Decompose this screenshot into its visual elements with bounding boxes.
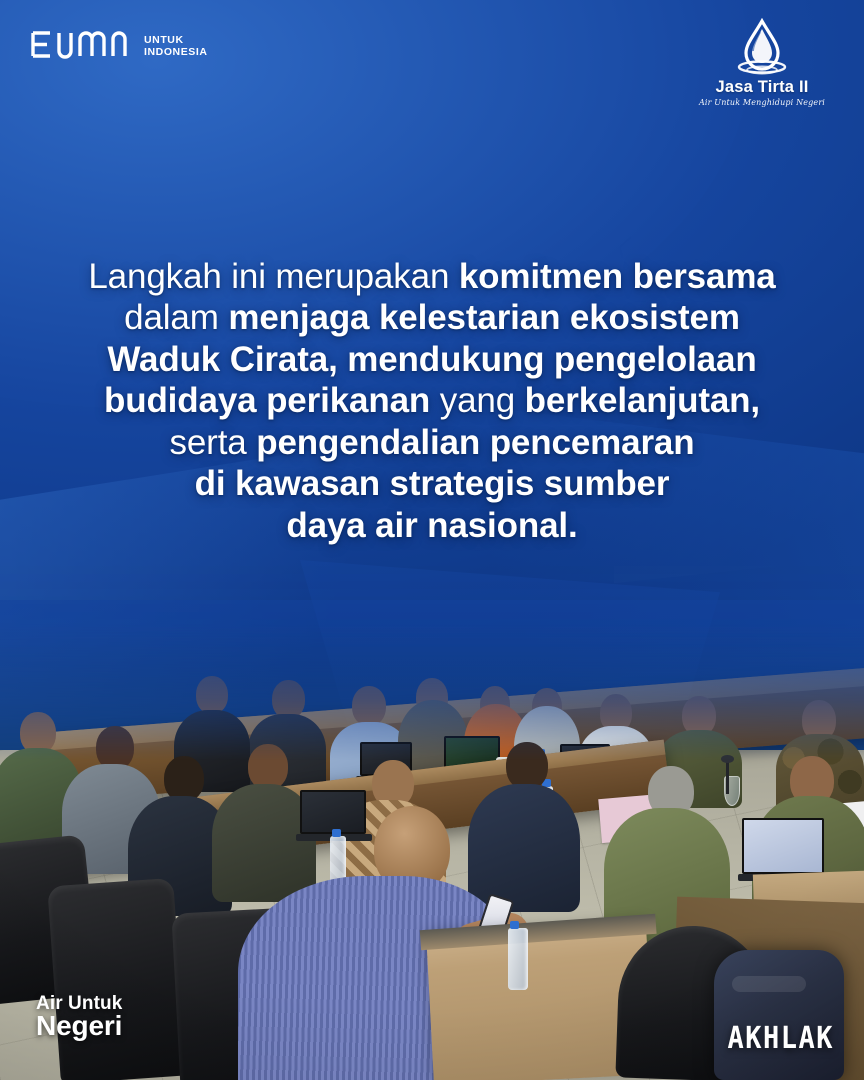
water-bottle bbox=[508, 928, 528, 990]
bumn-logo: UNTUK INDONESIA bbox=[30, 30, 208, 60]
bumn-sub-wordmark: UNTUK INDONESIA bbox=[144, 32, 208, 59]
headline-line-2: dalam menjaga kelestarian ekosistem bbox=[44, 297, 820, 338]
water-drop-icon bbox=[730, 18, 794, 80]
campaign-tagline: Air Untuk Negeri bbox=[36, 993, 122, 1042]
backpack bbox=[714, 950, 844, 1080]
bumn-sub-line-1: UNTUK bbox=[144, 35, 208, 47]
headline-run: komitmen bersama bbox=[459, 257, 776, 296]
headline-run: budidaya perikanan bbox=[104, 381, 430, 420]
headline-run: serta bbox=[170, 423, 257, 462]
headline-run: Waduk Cirata, mendukung pengelolaan bbox=[107, 340, 756, 379]
social-media-poster: UNTUK INDONESIA Jasa Tirta II Air Untuk … bbox=[0, 0, 864, 1080]
company-tagline: Air Untuk Menghidupi Negeri bbox=[682, 98, 842, 107]
akhlak-wordmark: AKHLAK bbox=[728, 1021, 834, 1056]
jasa-tirta-logo: Jasa Tirta II Air Untuk Menghidupi Neger… bbox=[682, 18, 842, 107]
headline-run: berkelanjutan, bbox=[525, 381, 760, 420]
headline-text: Langkah ini merupakan komitmen bersamada… bbox=[0, 256, 864, 546]
tagline-line-2: Negeri bbox=[36, 1010, 122, 1042]
headline-run: daya air nasional. bbox=[286, 506, 577, 545]
table-microphone bbox=[726, 760, 729, 794]
company-name: Jasa Tirta II bbox=[682, 78, 842, 97]
bumn-wordmark-icon bbox=[30, 30, 138, 60]
headline-line-7: daya air nasional. bbox=[44, 505, 820, 546]
headline-run: menjaga kelestarian ekosistem bbox=[228, 298, 740, 337]
headline-run: di kawasan strategis sumber bbox=[195, 464, 670, 503]
laptop bbox=[742, 818, 824, 874]
headline-line-6: di kawasan strategis sumber bbox=[44, 463, 820, 504]
headline-line-4: budidaya perikanan yang berkelanjutan, bbox=[44, 380, 820, 421]
headline-line-3: Waduk Cirata, mendukung pengelolaan bbox=[44, 339, 820, 380]
office-chair bbox=[47, 878, 187, 1080]
headline-run: pengendalian pencemaran bbox=[256, 423, 694, 462]
bumn-sub-line-2: INDONESIA bbox=[144, 47, 208, 59]
headline-run: yang bbox=[430, 381, 525, 420]
laptop bbox=[300, 790, 366, 834]
headline-line-1: Langkah ini merupakan komitmen bersama bbox=[44, 256, 820, 297]
headline-run: Langkah ini merupakan bbox=[88, 257, 459, 296]
headline-run: dalam bbox=[124, 298, 228, 337]
headline-line-5: serta pengendalian pencemaran bbox=[44, 422, 820, 463]
